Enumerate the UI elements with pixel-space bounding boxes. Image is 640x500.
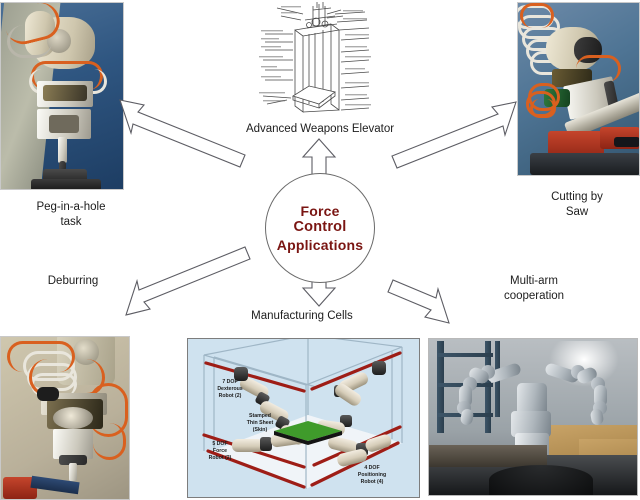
figure-canvas: 7 DOF Dexterous Robot (2) Stamped Thin S… xyxy=(0,0,640,498)
center-line-2: Control xyxy=(294,219,347,236)
center-line-3: Applications xyxy=(277,237,363,254)
center-node-force-control-applications: Force Control Applications xyxy=(265,173,375,283)
arrow-up-left-peg xyxy=(120,100,245,167)
arrow-up-elevator xyxy=(303,139,335,176)
arrow-up-right-saw xyxy=(392,102,516,168)
center-line-1: Force xyxy=(300,203,339,220)
arrow-down-left-deburring xyxy=(126,247,250,315)
arrow-down-right-multiarm xyxy=(388,280,449,323)
